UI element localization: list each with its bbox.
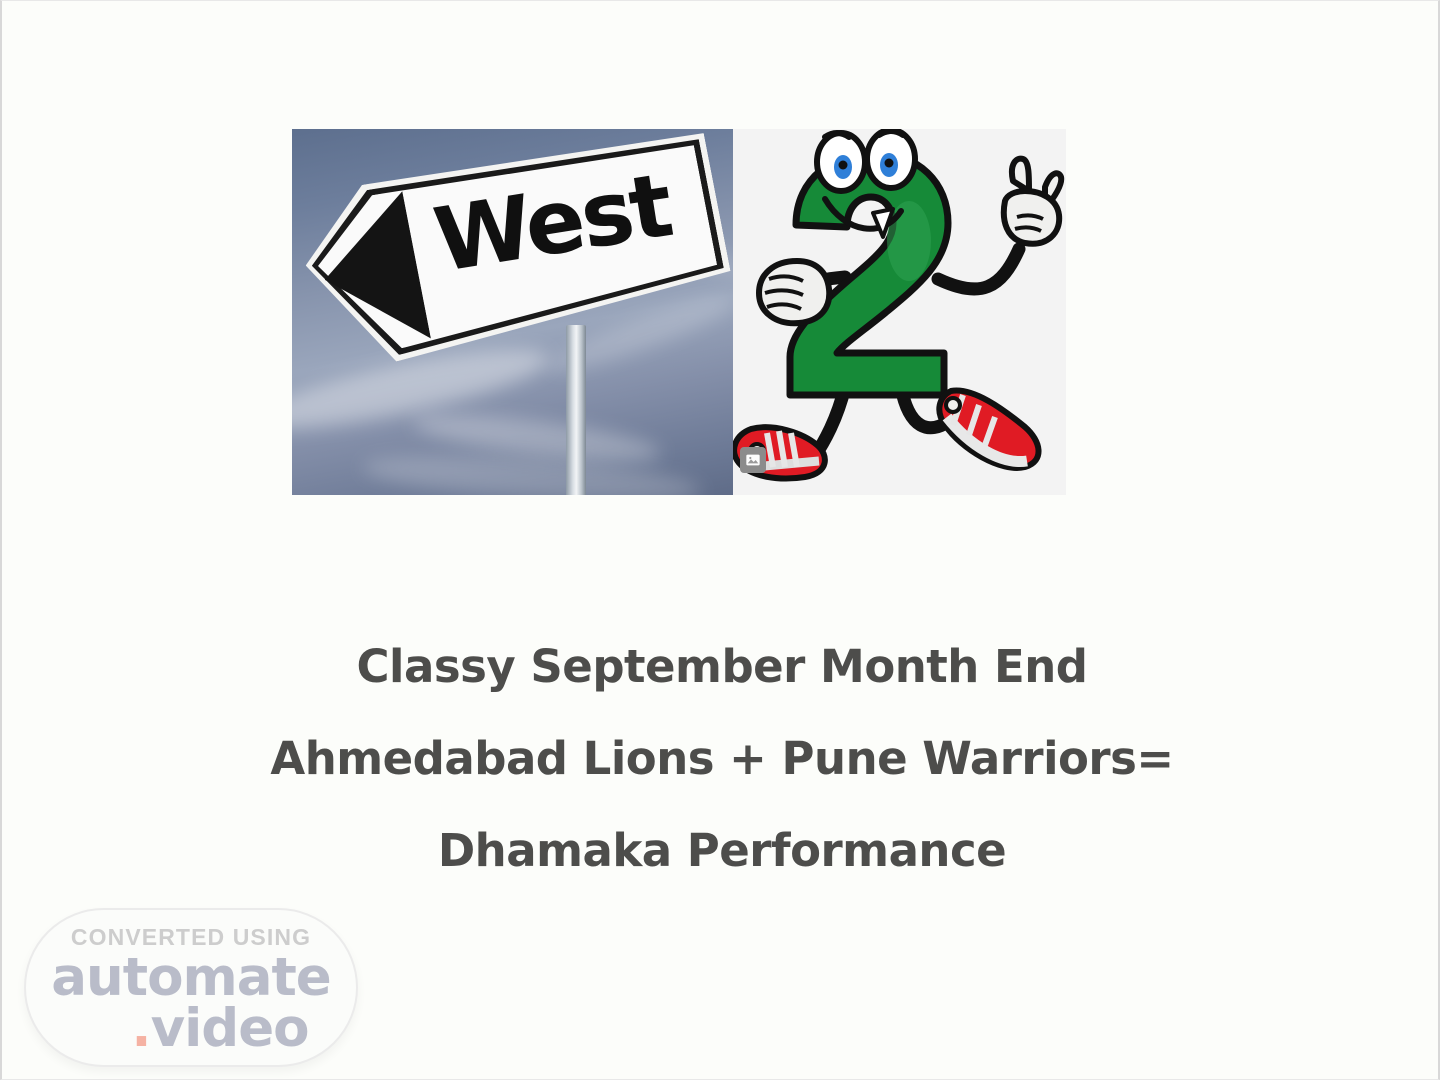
caption-text-block: Classy September Month End Ahmedabad Lio… [2, 621, 1440, 897]
slide-canvas: West [0, 0, 1440, 1080]
cartoon-two-illustration [733, 129, 1066, 495]
caption-line-3: Dhamaka Performance [2, 805, 1440, 897]
cartoon-number-two-character [733, 129, 1066, 495]
caption-line-1: Classy September Month End [2, 621, 1440, 713]
watermark-brand: automate [51, 953, 331, 1004]
caption-line-2: Ahmedabad Lions + Pune Warriors= [2, 713, 1440, 805]
watermark-domain-label: video [151, 998, 309, 1059]
watermark-dot: . [131, 998, 150, 1059]
sign-post [566, 325, 586, 495]
image-block: West [292, 129, 1066, 495]
watermark-domain: .video [131, 1004, 308, 1055]
fist-icon [759, 261, 829, 323]
west-direction-sign-photo: West [292, 129, 733, 495]
image-placeholder-icon [740, 447, 766, 473]
converted-using-watermark: CONVERTED USING automate .video [24, 908, 358, 1067]
watermark-kicker: CONVERTED USING [71, 926, 311, 949]
